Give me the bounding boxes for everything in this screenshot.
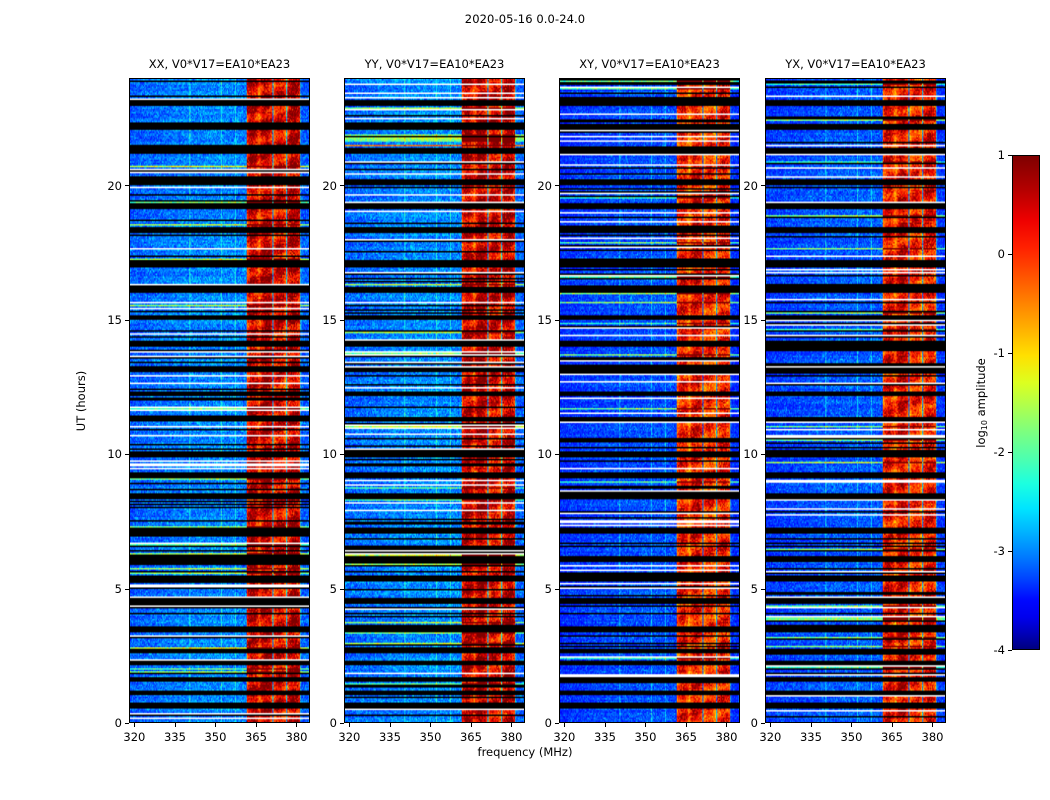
x-tick-label: 335 (379, 730, 401, 744)
y-tick-mark (555, 589, 559, 590)
y-tick-mark (340, 320, 344, 321)
colorbar-tick-mark (1008, 650, 1012, 651)
y-tick-label: 0 (733, 716, 758, 730)
x-tick-mark (564, 723, 565, 727)
y-tick-label: 5 (97, 582, 122, 596)
colorbar-gradient (1012, 155, 1040, 650)
x-tick-label: 320 (338, 730, 360, 744)
y-tick-mark (340, 723, 344, 724)
x-tick-mark (770, 723, 771, 727)
colorbar-tick-label: -4 (972, 643, 1005, 657)
y-tick-mark (761, 185, 765, 186)
colorbar-tick-mark (1008, 551, 1012, 552)
x-tick-mark (686, 723, 687, 727)
y-tick-label: 10 (527, 447, 552, 461)
spectrogram-panel-yx[interactable]: YX, V0*V17=EA10*EA23 (765, 78, 946, 723)
x-tick-mark (471, 723, 472, 727)
x-tick-label: 380 (501, 730, 523, 744)
y-tick-mark (761, 454, 765, 455)
x-tick-label: 380 (286, 730, 308, 744)
x-tick-label: 380 (922, 730, 944, 744)
x-tick-mark (811, 723, 812, 727)
y-tick-label: 15 (97, 313, 122, 327)
y-tick-label: 0 (97, 716, 122, 730)
x-tick-mark (296, 723, 297, 727)
colorbar-tick-label: 0 (972, 247, 1005, 261)
colorbar-tick-label: -3 (972, 544, 1005, 558)
colorbar-tick-mark (1008, 254, 1012, 255)
spectrogram-image (766, 79, 945, 722)
y-tick-mark (340, 589, 344, 590)
x-tick-mark (892, 723, 893, 727)
x-tick-label: 365 (881, 730, 903, 744)
colorbar-label-subscript: 10 (980, 420, 989, 430)
y-tick-label: 15 (733, 313, 758, 327)
y-tick-mark (125, 454, 129, 455)
spectrogram-panel-xy[interactable]: XY, V0*V17=EA10*EA23 (559, 78, 740, 723)
x-tick-label: 320 (553, 730, 575, 744)
y-tick-mark (125, 320, 129, 321)
y-tick-label: 5 (312, 582, 337, 596)
y-tick-label: 5 (733, 582, 758, 596)
y-tick-label: 20 (312, 179, 337, 193)
x-tick-mark (349, 723, 350, 727)
colorbar-tick-mark (1008, 353, 1012, 354)
y-tick-label: 10 (97, 447, 122, 461)
y-tick-label: 20 (733, 179, 758, 193)
panel-plot-area[interactable] (129, 78, 310, 723)
y-tick-mark (340, 185, 344, 186)
x-tick-mark (511, 723, 512, 727)
y-tick-mark (125, 589, 129, 590)
colorbar-label: log10 amplitude (974, 358, 988, 448)
figure-canvas: 2020-05-16 0.0-24.0 UT (hours) frequency… (0, 0, 1050, 800)
x-tick-mark (256, 723, 257, 727)
y-tick-mark (761, 589, 765, 590)
x-tick-label: 335 (800, 730, 822, 744)
x-tick-label: 350 (634, 730, 656, 744)
panel-title: YX, V0*V17=EA10*EA23 (785, 57, 926, 71)
spectrogram-panel-xx[interactable]: XX, V0*V17=EA10*EA23 (129, 78, 310, 723)
x-tick-mark (726, 723, 727, 727)
x-tick-label: 365 (245, 730, 267, 744)
x-tick-mark (175, 723, 176, 727)
panel-title: XY, V0*V17=EA10*EA23 (579, 57, 720, 71)
x-tick-mark (430, 723, 431, 727)
x-tick-label: 350 (204, 730, 226, 744)
y-axis-label: UT (hours) (74, 370, 88, 430)
y-tick-label: 10 (312, 447, 337, 461)
spectrogram-panel-yy[interactable]: YY, V0*V17=EA10*EA23 (344, 78, 525, 723)
colorbar-tick-mark (1008, 155, 1012, 156)
x-tick-label: 335 (164, 730, 186, 744)
y-tick-mark (761, 723, 765, 724)
x-tick-label: 365 (460, 730, 482, 744)
x-tick-label: 335 (594, 730, 616, 744)
colorbar (1012, 155, 1040, 650)
x-tick-mark (645, 723, 646, 727)
panel-title: YY, V0*V17=EA10*EA23 (365, 57, 505, 71)
panel-plot-area[interactable] (344, 78, 525, 723)
x-tick-mark (932, 723, 933, 727)
colorbar-tick-label: 1 (972, 148, 1005, 162)
spectrogram-image (130, 79, 309, 722)
y-tick-mark (125, 185, 129, 186)
figure-suptitle: 2020-05-16 0.0-24.0 (0, 12, 1050, 26)
y-tick-label: 15 (527, 313, 552, 327)
spectrogram-image (560, 79, 739, 722)
x-tick-mark (605, 723, 606, 727)
colorbar-label-prefix: log (974, 430, 988, 448)
panel-plot-area[interactable] (765, 78, 946, 723)
y-tick-label: 0 (312, 716, 337, 730)
y-tick-mark (555, 454, 559, 455)
y-tick-mark (125, 723, 129, 724)
x-tick-label: 350 (419, 730, 441, 744)
x-tick-label: 320 (759, 730, 781, 744)
y-tick-mark (555, 723, 559, 724)
y-tick-mark (555, 320, 559, 321)
y-tick-label: 20 (97, 179, 122, 193)
x-tick-label: 350 (840, 730, 862, 744)
y-tick-mark (340, 454, 344, 455)
x-tick-mark (215, 723, 216, 727)
y-tick-label: 15 (312, 313, 337, 327)
colorbar-label-suffix: amplitude (974, 358, 988, 420)
x-tick-mark (134, 723, 135, 727)
x-tick-label: 320 (123, 730, 145, 744)
y-tick-mark (761, 320, 765, 321)
spectrogram-image (345, 79, 524, 722)
panel-plot-area[interactable] (559, 78, 740, 723)
x-tick-mark (851, 723, 852, 727)
y-tick-label: 0 (527, 716, 552, 730)
x-tick-label: 365 (675, 730, 697, 744)
y-tick-label: 20 (527, 179, 552, 193)
colorbar-tick-mark (1008, 452, 1012, 453)
x-tick-mark (390, 723, 391, 727)
y-tick-label: 5 (527, 582, 552, 596)
y-tick-mark (555, 185, 559, 186)
x-tick-label: 380 (716, 730, 738, 744)
x-axis-label: frequency (MHz) (0, 745, 1050, 759)
panel-title: XX, V0*V17=EA10*EA23 (149, 57, 290, 71)
y-tick-label: 10 (733, 447, 758, 461)
